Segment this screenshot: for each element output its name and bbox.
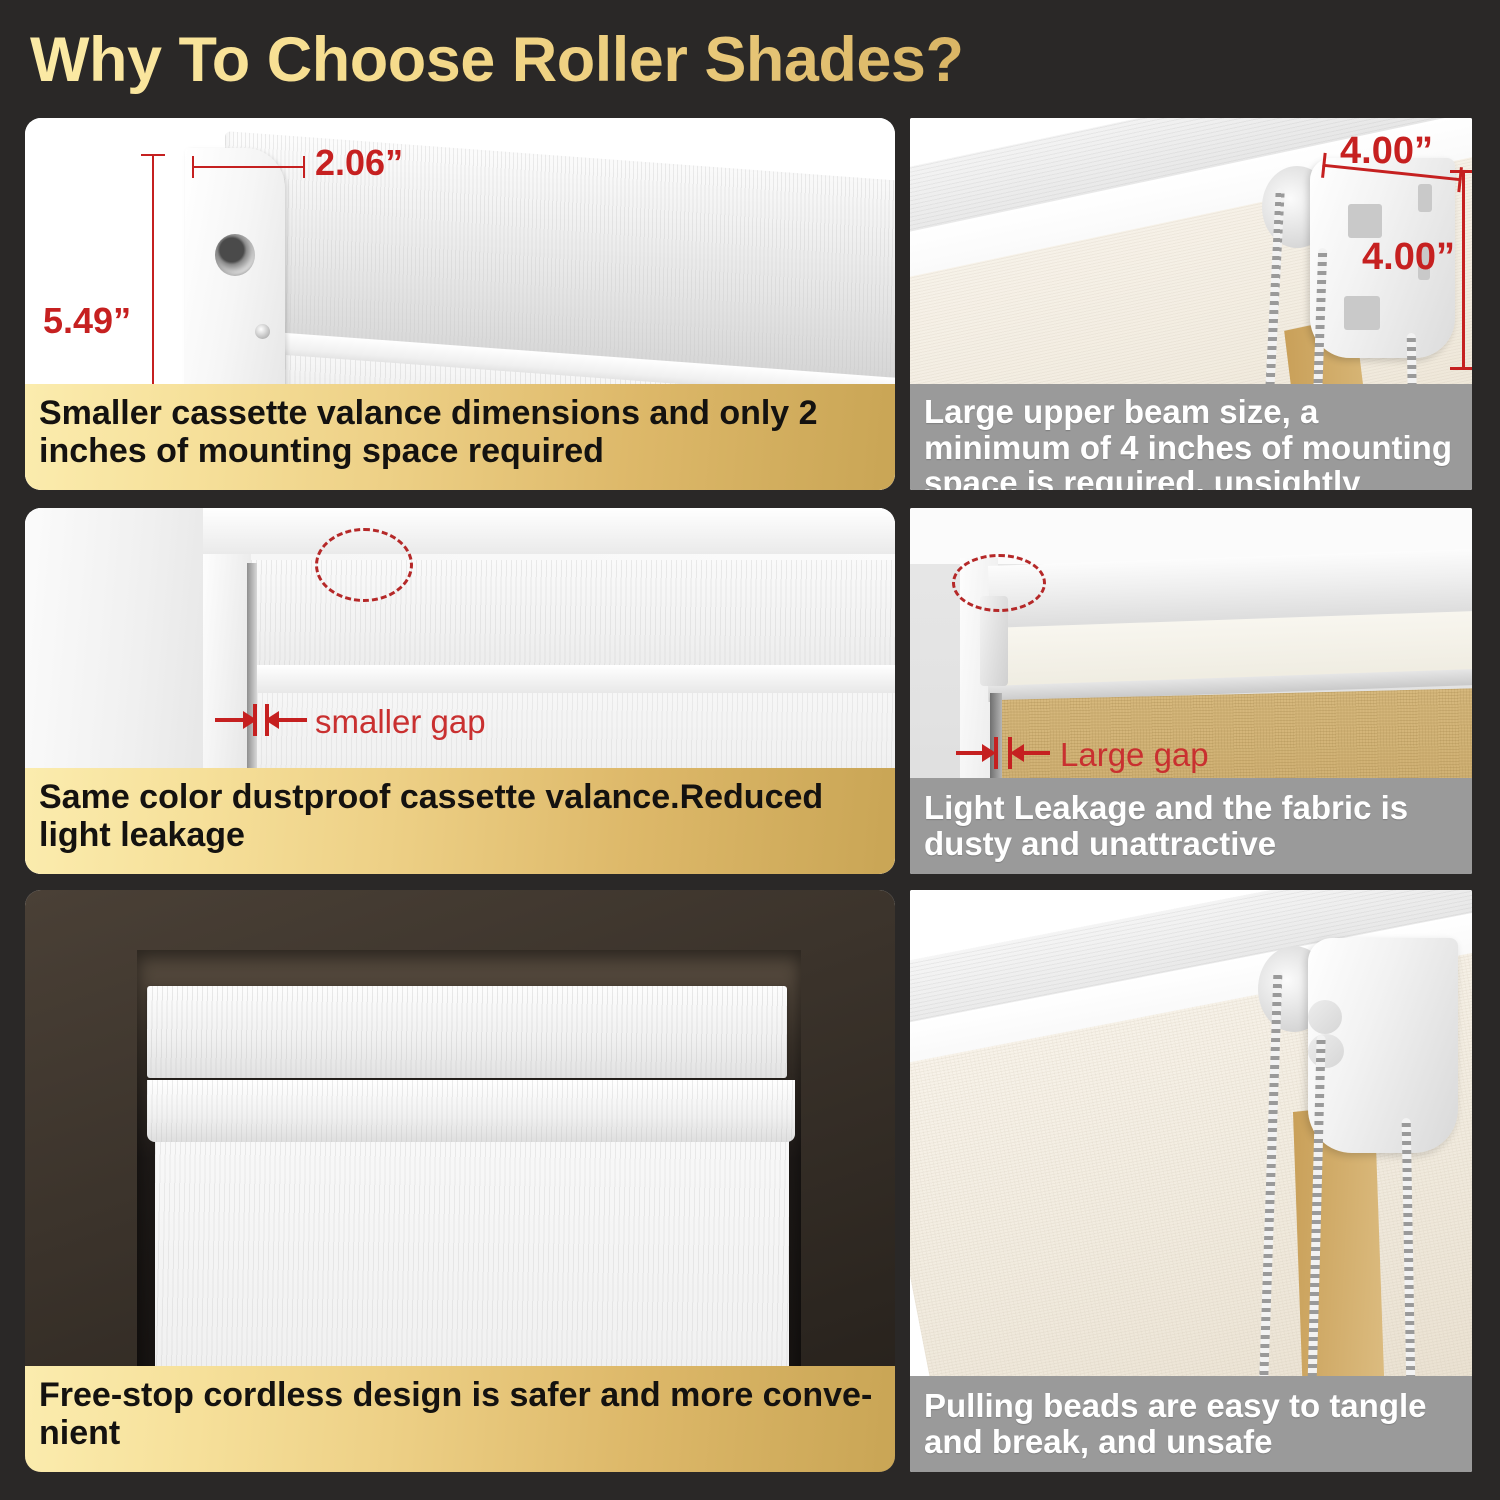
bracket-hub-icon (1308, 1000, 1342, 1034)
gap-arrow-right-icon (277, 718, 307, 722)
panel-light-leakage: Large gap Light Leakage and the fabric i… (910, 508, 1472, 874)
width-dimension-line (192, 166, 305, 168)
bracket-slot-icon (1308, 966, 1320, 1000)
bracket-hub-icon (1308, 1034, 1344, 1068)
gap-arrow-left-icon (956, 751, 984, 755)
panel-2-caption: Large upper beam size, a minimum of 4 in… (910, 384, 1472, 490)
end-cap-knob-icon (215, 234, 255, 276)
width-dimension-label: 2.06” (315, 142, 403, 184)
mounting-bracket (1308, 938, 1458, 1153)
highlight-circle-annotation (952, 554, 1046, 612)
gap-marker-line (994, 737, 998, 769)
panel-cordless-design: Free-stop cordless design is safer and m… (25, 890, 895, 1472)
cassette-valance-lower (147, 1080, 795, 1142)
bracket-hub-icon (1344, 296, 1380, 330)
panel-4-caption: Light Leakage and the fabric is dusty an… (910, 778, 1472, 874)
large-gap-label: Large gap (1060, 736, 1209, 774)
gap-arrow-right-icon (1022, 751, 1050, 755)
panel-6-caption: Pulling beads are easy to tangle and bre… (910, 1376, 1472, 1472)
highlight-circle-annotation (315, 528, 413, 602)
bracket-slot-icon (1418, 184, 1432, 212)
bracket-hub-icon (1348, 204, 1382, 238)
panel-large-upper-beam: 4.00” 4.00” Large upper beam size, a min… (910, 118, 1472, 490)
gap-arrow-left-icon (215, 718, 245, 722)
bracket-slot-icon (1308, 938, 1322, 966)
panel-pulling-beads: Pulling beads are easy to tangle and bre… (910, 890, 1472, 1472)
end-cap-screw-icon (255, 324, 270, 339)
panel-5-caption: Free-stop cordless design is safer and m… (25, 1366, 895, 1472)
page-title: Why To Choose Roller Shades? (30, 24, 1330, 96)
panel-3-caption: Same color dustproof cassette valance.Re… (25, 768, 895, 874)
panel-smaller-gap: smaller gap Same color dustproof cassett… (25, 508, 895, 874)
beam-width-dimension-label: 4.00” (1340, 130, 1433, 173)
beam-height-dimension-line (1462, 170, 1465, 370)
beam-height-dimension-label: 4.00” (1362, 236, 1455, 279)
smaller-gap-label: smaller gap (315, 703, 486, 741)
panel-1-caption: Smaller cassette valance dimensions and … (25, 384, 895, 490)
panel-smaller-cassette: 2.06” 5.49” Smaller cassette valance dim… (25, 118, 895, 490)
gap-marker-line (253, 704, 257, 736)
cassette-valance-edge (251, 665, 895, 693)
height-dimension-label: 5.49” (43, 300, 131, 342)
cassette-valance-upper (147, 986, 787, 1078)
window-frame-top (203, 508, 895, 554)
